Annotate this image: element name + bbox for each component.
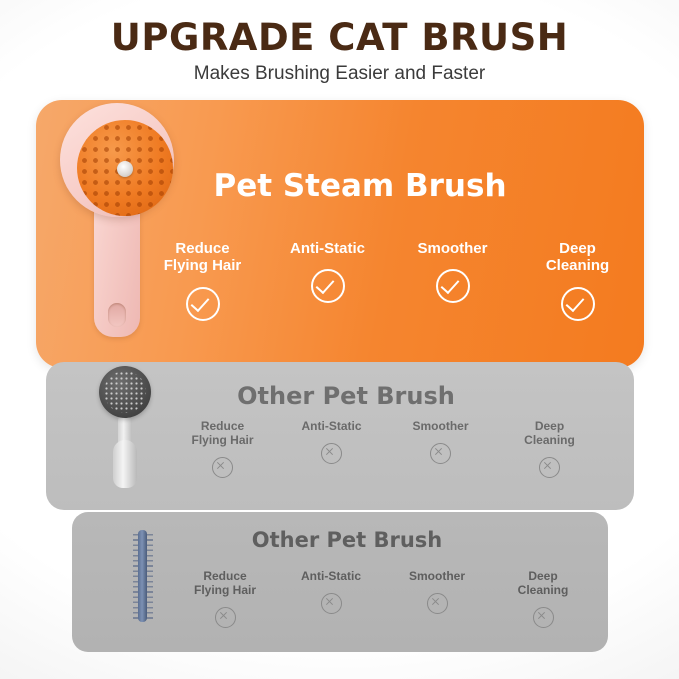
feature-label: Deep Cleaning — [524, 420, 575, 448]
slicker-brush-pins — [104, 371, 146, 413]
cross-icon — [215, 607, 236, 628]
features-second: Reduce Flying Hair Anti-Static Smoother … — [168, 420, 604, 478]
check-icon — [186, 287, 220, 321]
check-icon — [311, 269, 345, 303]
cross-icon — [321, 593, 342, 614]
feature-anti-static: Anti-Static — [277, 420, 386, 478]
feature-deep-cleaning: Deep Cleaning — [495, 420, 604, 478]
feature-label: Anti-Static — [302, 420, 362, 434]
feature-label: Reduce Flying Hair — [194, 570, 256, 598]
feature-smoother: Smoother — [386, 420, 495, 478]
steam-brush-head-rim — [60, 103, 174, 217]
cross-icon — [427, 593, 448, 614]
feature-label: Anti-Static — [301, 570, 361, 584]
feature-label: Smoother — [412, 420, 468, 434]
card-title-third: Other Pet Brush — [102, 528, 592, 552]
comb-spine — [138, 530, 147, 622]
feature-label: Deep Cleaning — [518, 570, 569, 598]
feature-label: Deep Cleaning — [546, 240, 609, 275]
features-third: Reduce Flying Hair Anti-Static Smoother … — [172, 570, 596, 628]
cross-icon — [321, 443, 342, 464]
feature-reduce-flying-hair: Reduce Flying Hair — [168, 420, 277, 478]
features-primary: Reduce Flying Hair Anti-Static Smoother … — [140, 240, 640, 321]
feature-label: Smoother — [417, 240, 487, 257]
feature-smoother: Smoother — [390, 240, 515, 321]
feature-anti-static: Anti-Static — [265, 240, 390, 321]
slicker-brush-handle — [113, 440, 137, 488]
feature-deep-cleaning: Deep Cleaning — [490, 570, 596, 628]
feature-label: Reduce Flying Hair — [164, 240, 242, 275]
slicker-brush-image — [85, 366, 165, 488]
cross-icon — [533, 607, 554, 628]
check-icon — [561, 287, 595, 321]
feature-deep-cleaning: Deep Cleaning — [515, 240, 640, 321]
product-comparison-infographic: UPGRADE CAT BRUSH Makes Brushing Easier … — [0, 0, 679, 679]
page-title: UPGRADE CAT BRUSH — [0, 16, 679, 59]
steam-brush-center-button — [117, 161, 133, 177]
feature-label: Reduce Flying Hair — [191, 420, 253, 448]
feature-reduce-flying-hair: Reduce Flying Hair — [172, 570, 278, 628]
slicker-brush-head — [99, 366, 151, 418]
steam-brush-handle-slot — [108, 303, 126, 327]
feature-smoother: Smoother — [384, 570, 490, 628]
steel-comb-image — [124, 530, 164, 624]
feature-anti-static: Anti-Static — [278, 570, 384, 628]
cross-icon — [539, 457, 560, 478]
page-subtitle: Makes Brushing Easier and Faster — [0, 63, 679, 85]
cross-icon — [212, 457, 233, 478]
feature-label: Smoother — [409, 570, 465, 584]
check-icon — [436, 269, 470, 303]
cross-icon — [430, 443, 451, 464]
feature-reduce-flying-hair: Reduce Flying Hair — [140, 240, 265, 321]
feature-label: Anti-Static — [290, 240, 365, 257]
